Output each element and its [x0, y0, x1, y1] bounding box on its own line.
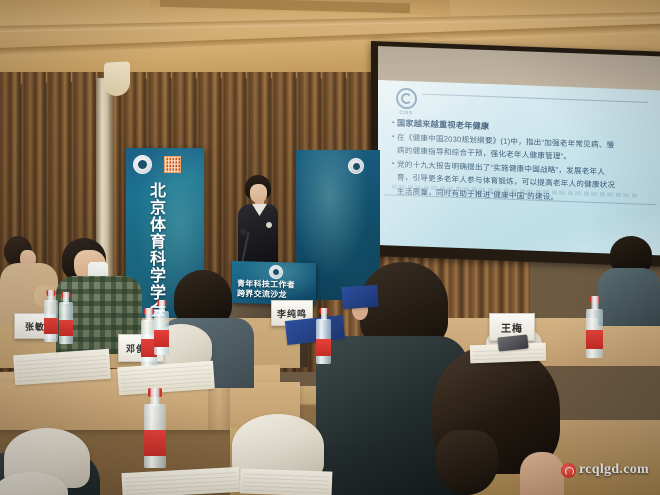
- ciss-swirl-icon: [396, 88, 417, 110]
- water-bottle: [144, 388, 166, 468]
- conference-photo: CISS • 国家越来越重视老年健康 • 在《健康中国2030规划纲要》(1)中…: [0, 0, 660, 495]
- society-emblem-icon: [348, 158, 364, 174]
- document-paper: [121, 467, 240, 495]
- podium-sign: 青年科技工作者 跨界交流沙龙: [232, 261, 316, 305]
- society-emblem-icon: [133, 155, 152, 174]
- water-bottle: [154, 300, 169, 355]
- podium-sign-line-2: 跨界交流沙龙: [237, 288, 287, 300]
- ciss-logo-text: CISS: [400, 110, 413, 115]
- watermark-text: rcqlgd.com: [579, 462, 649, 478]
- table-cloth-fold: [208, 384, 230, 430]
- name-card-text: 王梅: [501, 320, 523, 335]
- slide-header-rule: [422, 94, 648, 103]
- society-emblem-icon: [269, 265, 283, 279]
- ciss-logo: CISS: [394, 88, 418, 116]
- attendee-neck: [520, 452, 564, 495]
- banner-logo-group: [133, 155, 181, 174]
- watermark: rcqlgd.com: [561, 462, 649, 478]
- water-bottle: [44, 290, 58, 342]
- name-card-text: 张敏: [25, 320, 45, 333]
- projected-slide: CISS • 国家越来越重视老年健康 • 在《健康中国2030规划纲要》(1)中…: [378, 80, 660, 255]
- water-bottle: [316, 308, 331, 364]
- attendee-ponytail: [436, 430, 498, 495]
- speaker-badge: [266, 222, 272, 228]
- seal-icon: [164, 156, 181, 173]
- document-paper: [240, 468, 333, 495]
- water-bottle: [59, 292, 73, 344]
- attendee-torso: [598, 268, 660, 326]
- banner-vertical-title: 北京体育科学学会: [142, 182, 164, 318]
- microphone-head-icon: [240, 228, 247, 235]
- watermark-logo-icon: [561, 463, 576, 478]
- name-card-text: 李纯鸣: [277, 307, 307, 320]
- water-bottle: [586, 296, 603, 358]
- folder-blue: [341, 285, 378, 309]
- wall-sconce: [104, 61, 130, 96]
